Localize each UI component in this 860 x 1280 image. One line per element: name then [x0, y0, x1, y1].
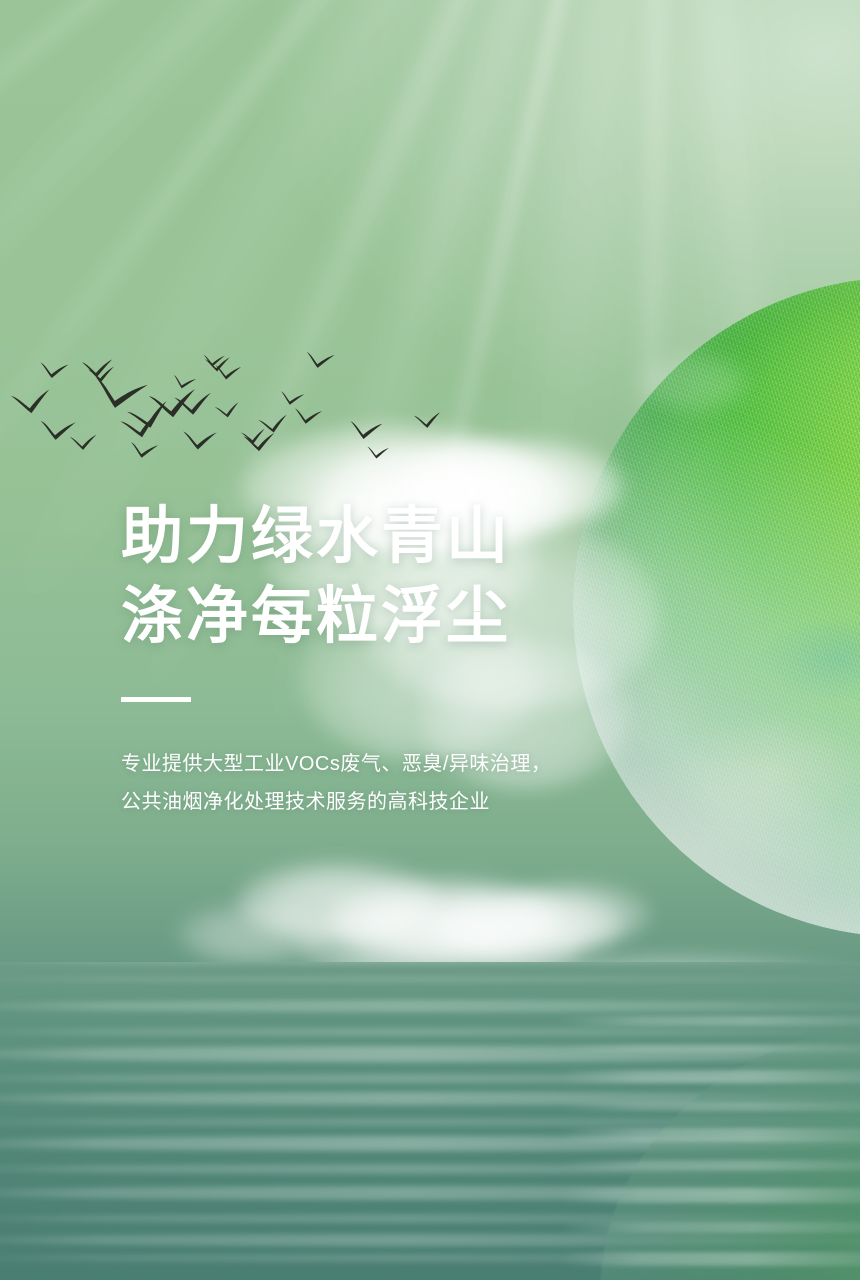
water-ripple	[0, 1000, 860, 1012]
water-ripple	[0, 976, 860, 983]
headline-line-1: 助力绿水青山	[121, 497, 681, 577]
subtitle-line-1: 专业提供大型工业VOCs废气、恶臭/异味治理，	[121, 746, 681, 782]
globe-water-reflection	[600, 1020, 860, 1280]
reflection-texture	[600, 1020, 860, 1280]
divider-rule	[121, 697, 191, 702]
promotional-poster: 助力绿水青山 涤净每粒浮尘 专业提供大型工业VOCs废气、恶臭/异味治理， 公共…	[0, 0, 860, 1280]
hero-copy-block: 助力绿水青山 涤净每粒浮尘 专业提供大型工业VOCs废气、恶臭/异味治理， 公共…	[121, 497, 681, 820]
headline-line-2: 涤净每粒浮尘	[121, 577, 681, 657]
subtitle-line-2: 公共油烟净化处理技术服务的高科技企业	[121, 784, 681, 820]
water-ripple	[0, 962, 860, 965]
